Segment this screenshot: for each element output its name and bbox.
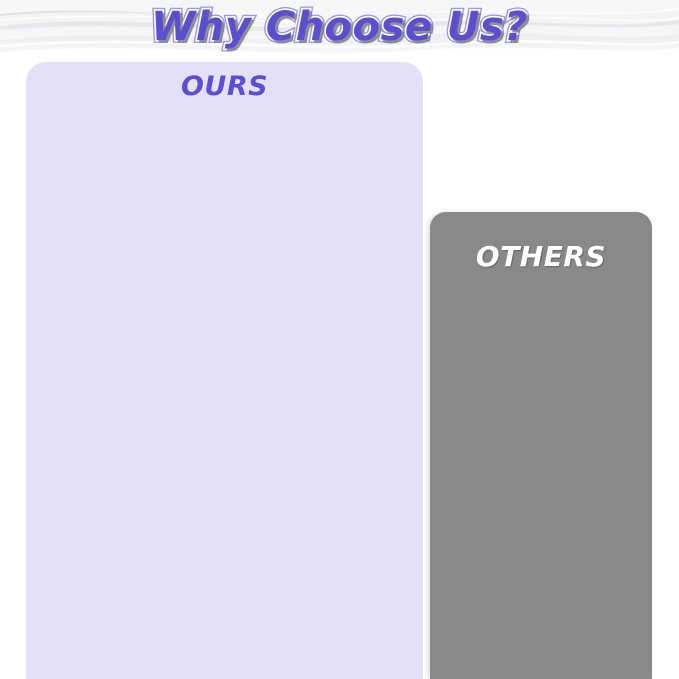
- ours-heading: OURS: [26, 71, 423, 102]
- page-title: Why Choose Us?: [0, 4, 679, 50]
- others-panel: OTHERS: [430, 212, 652, 679]
- others-heading: OTHERS: [430, 240, 652, 273]
- infographic-canvas: Why Choose Us? Why Choose Us? OURS Lifel…: [0, 0, 679, 679]
- ours-panel: OURS: [26, 62, 423, 679]
